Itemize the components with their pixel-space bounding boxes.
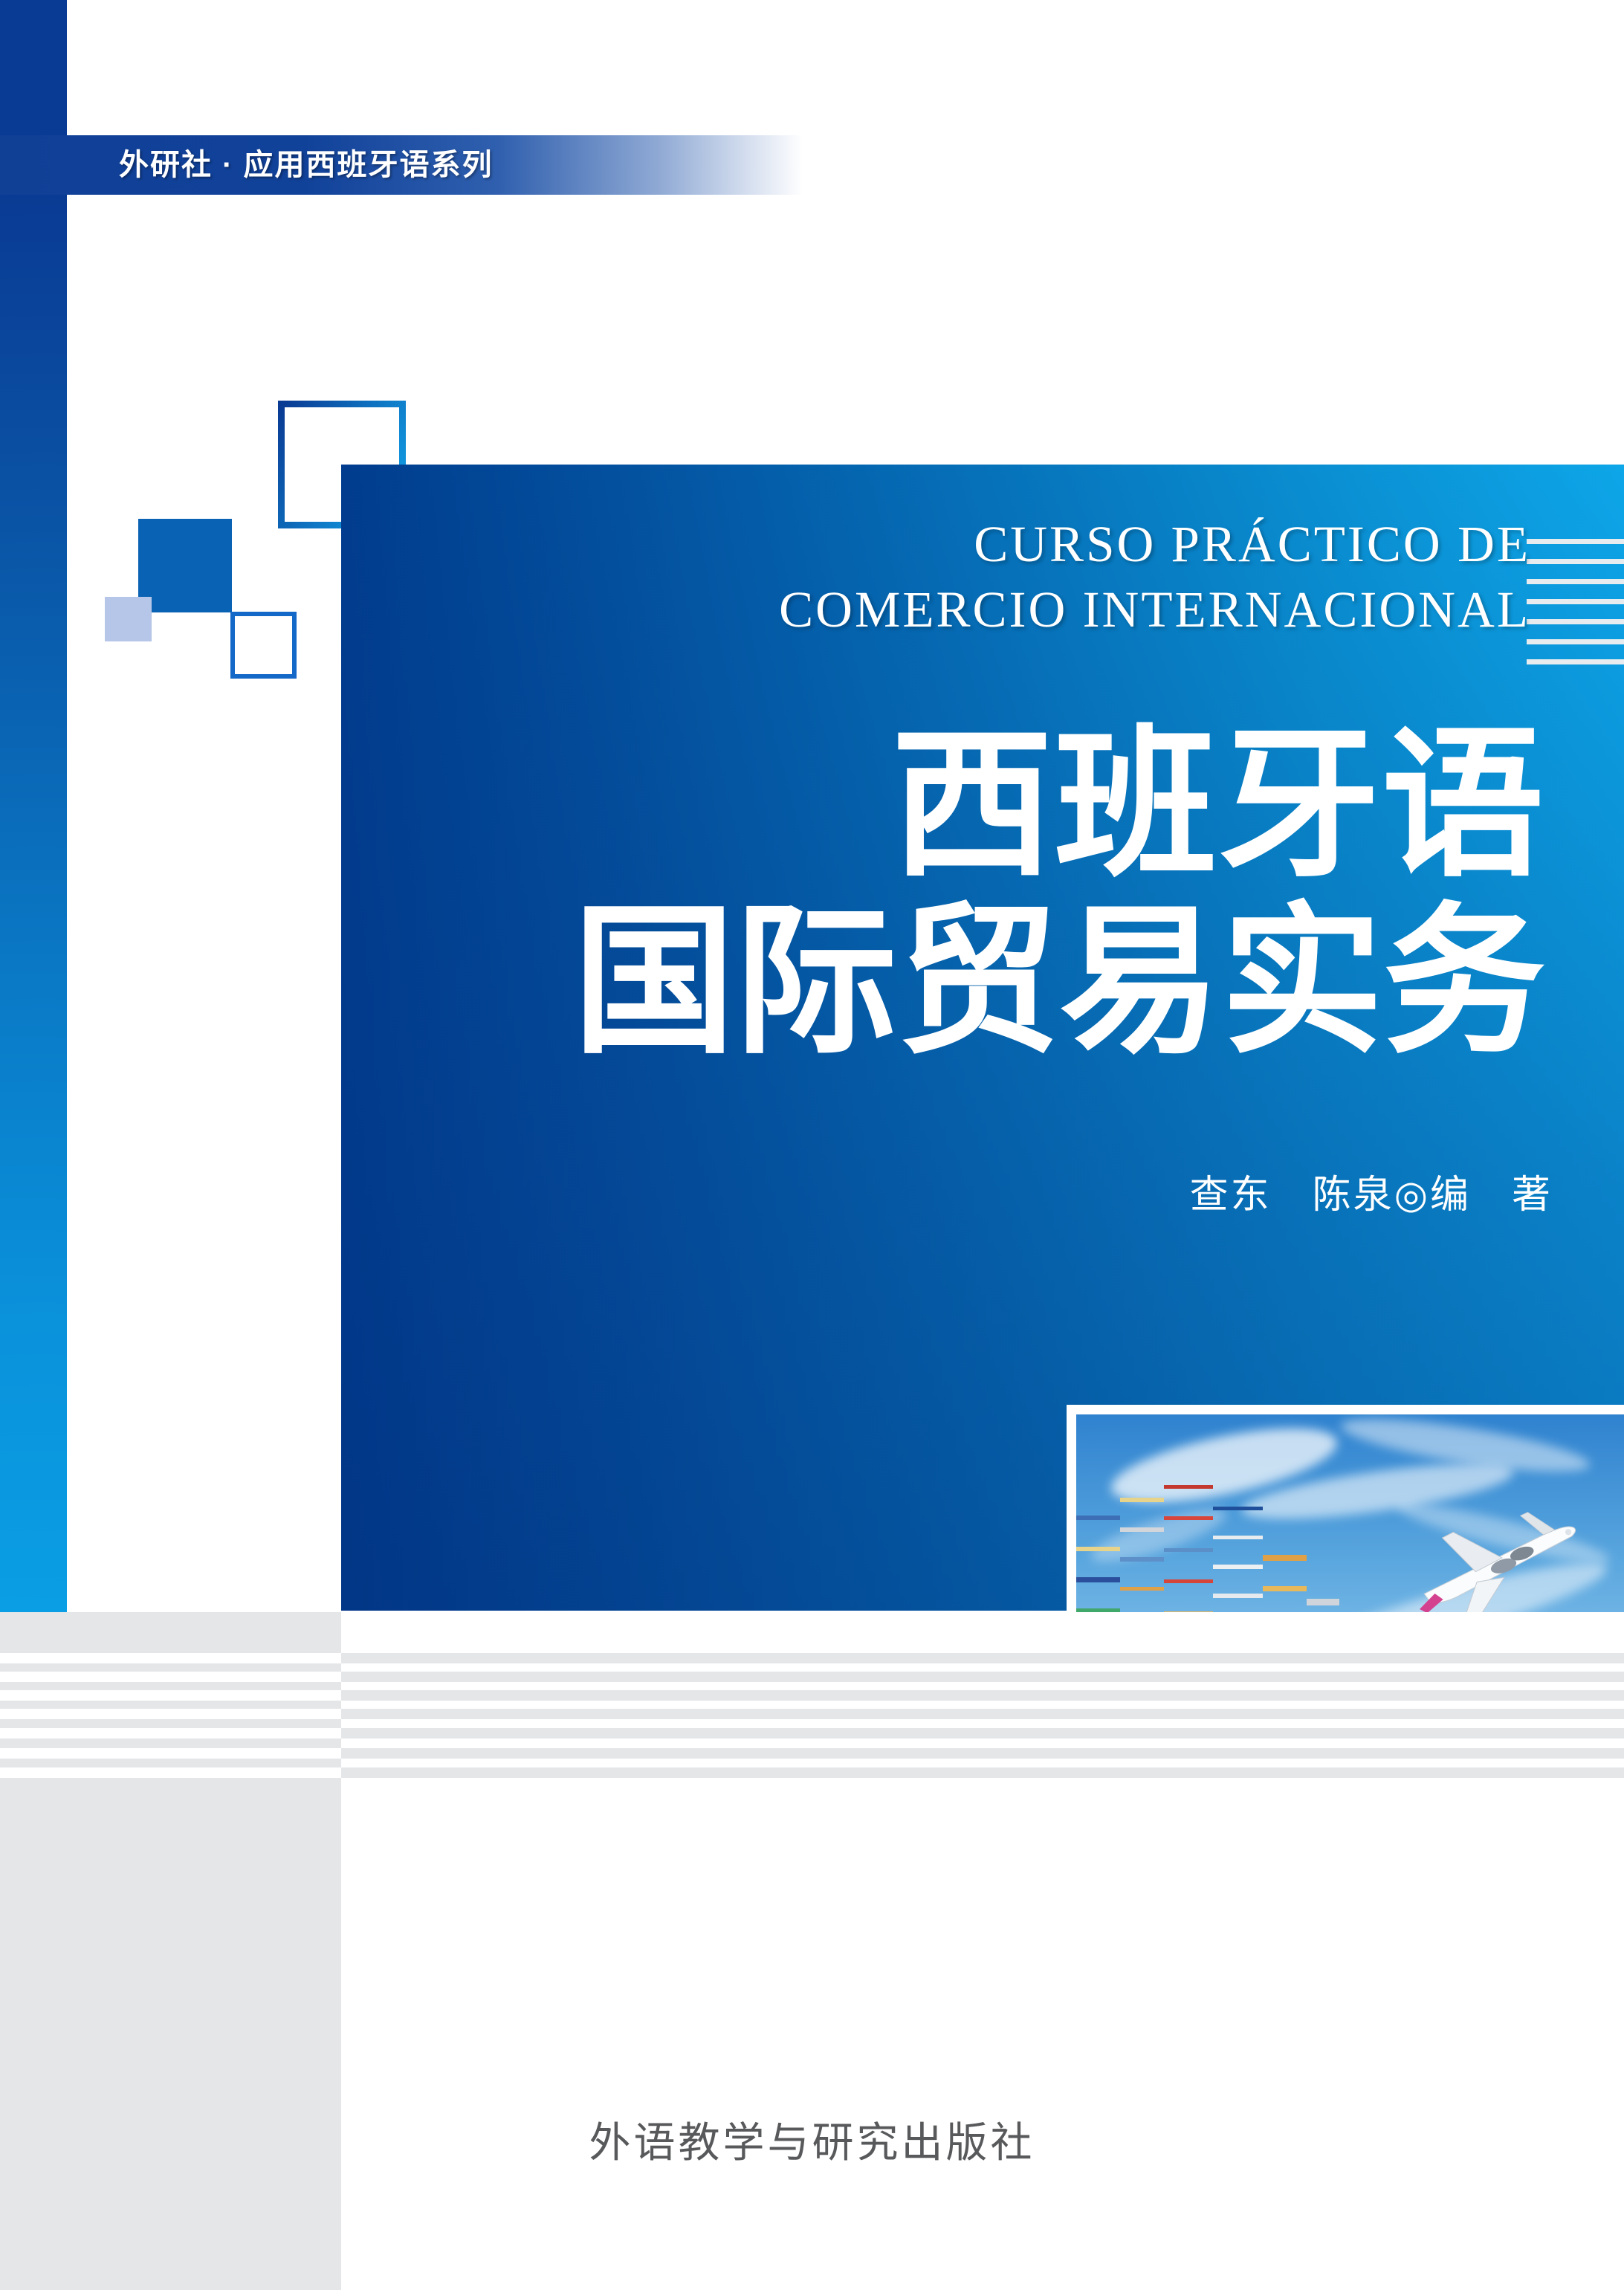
stripe-segment-left [0,1653,341,1663]
spine-accent-bar [0,0,67,1612]
spanish-title: CURSO PRÁCTICO DE COMERCIO INTERNACIONAL [341,511,1530,642]
shipping-container [1164,1485,1213,1489]
shipping-container [1213,1565,1262,1568]
stripe-segment-left [0,1672,341,1682]
title-stripe-group [1527,539,1624,679]
series-banner-label: 外研社 · 应用西班牙语系列 [119,140,494,190]
stripe-segment-right [341,1653,1624,1663]
stripe-segment-right [341,1767,1624,1778]
stripe-segment-right [341,1672,1624,1682]
title-stripe [1527,559,1624,564]
shipping-container [1076,1547,1120,1551]
stripe-segment-left [0,1767,341,1778]
stripe-segment-left [0,1748,341,1759]
stripe-segment-right [341,1709,1624,1719]
spanish-title-line-1: CURSO PRÁCTICO DE [341,511,1530,577]
bottom-stripe-row [0,1709,1624,1719]
shipping-container [1263,1586,1307,1592]
shipping-container [1164,1579,1213,1583]
title-stripe [1527,579,1624,584]
bottom-stripe-row [0,1728,1624,1738]
shipping-container [1120,1498,1164,1501]
shipping-container [1213,1536,1262,1539]
book-cover: 外研社 · 应用西班牙语系列 CURSO PRÁCTICO DE COMERCI… [0,0,1624,2290]
shipping-container [1120,1557,1164,1561]
chinese-title: 西班牙语 国际贸易实务 [341,717,1545,1071]
stripe-segment-right [341,1748,1624,1759]
title-stripe [1527,619,1624,624]
bottom-stripe-row [0,1748,1624,1759]
publisher-name: 外语教学与研究出版社 [0,2109,1624,2170]
decorative-square-outline-small [230,612,297,679]
bottom-stripe-row [0,1653,1624,1663]
shipping-container [1213,1507,1262,1510]
stripe-segment-left [0,1690,341,1701]
shipping-container [1213,1594,1262,1597]
chinese-title-line-2: 国际贸易实务 [341,894,1545,1071]
title-stripe [1527,639,1624,644]
shipping-container [1120,1527,1164,1531]
shipping-container [1164,1548,1213,1552]
shipping-container [1307,1599,1339,1605]
shipping-container [1076,1516,1120,1520]
shipping-container [1076,1577,1120,1582]
shipping-container [1263,1555,1307,1561]
title-stripe [1527,539,1624,544]
decorative-square-lavender [105,597,152,641]
stripe-segment-left [0,1709,341,1719]
cargo-airplane-icon [1383,1493,1614,1625]
bottom-stripe-row [0,1672,1624,1682]
stripe-segment-right [341,1690,1624,1701]
bottom-stripe-row [0,1767,1624,1778]
stripe-segment-right [341,1728,1624,1738]
chinese-title-line-1: 西班牙语 [341,717,1545,894]
bottom-stripe-row [0,1690,1624,1701]
stripe-segment-left [0,1728,341,1738]
title-stripe [1527,599,1624,604]
shipping-container [1120,1587,1164,1591]
spanish-title-line-2: COMERCIO INTERNACIONAL [341,577,1530,642]
author-line: 查东 陈泉◎编 著 [341,1168,1553,1222]
decorative-square-solid-blue [138,519,232,612]
title-stripe [1527,659,1624,664]
shipping-container [1164,1516,1213,1520]
